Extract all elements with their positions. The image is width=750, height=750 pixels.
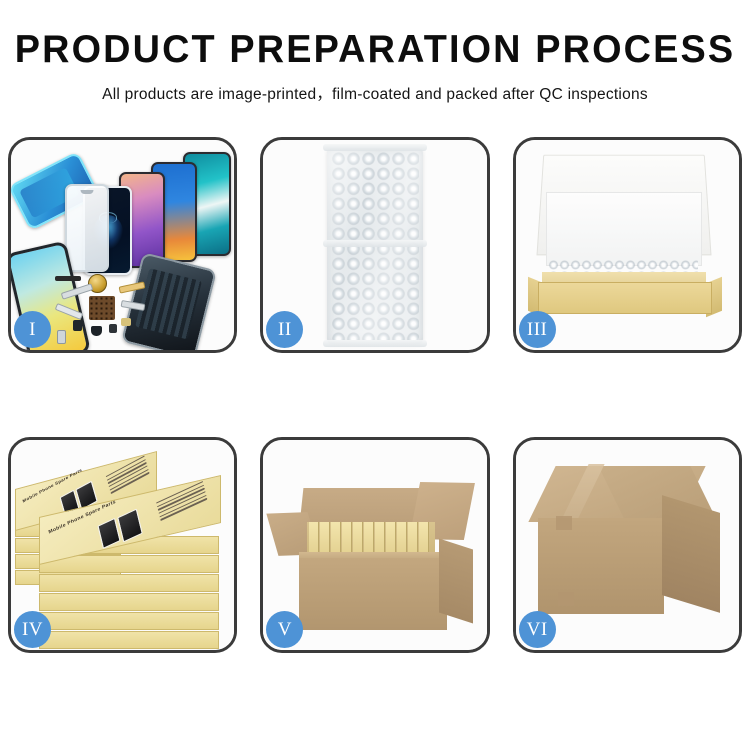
step-panel-1: I bbox=[8, 137, 237, 353]
small-part bbox=[91, 326, 102, 336]
small-part bbox=[57, 330, 66, 344]
header: PRODUCT PREPARATION PROCESS All products… bbox=[0, 0, 750, 104]
box-phone-graphic bbox=[97, 518, 120, 549]
small-part bbox=[109, 324, 117, 333]
page-subtitle: All products are image-printed，film-coat… bbox=[0, 82, 750, 104]
step-badge-4: IV bbox=[14, 611, 51, 648]
inner-box-front bbox=[538, 282, 712, 314]
step-panel-4: Mobile Phone Spare Parts Mobile Phone Sp… bbox=[8, 437, 237, 653]
page-title: PRODUCT PREPARATION PROCESS bbox=[11, 30, 739, 69]
step-badge-3: III bbox=[519, 311, 556, 348]
bubble-wrap-seal-bottom bbox=[323, 340, 427, 347]
small-part bbox=[121, 318, 131, 326]
foam-sheet bbox=[546, 192, 702, 266]
sealed-carton-front bbox=[538, 518, 664, 614]
step-panel-3: III bbox=[513, 137, 742, 353]
carton-side-face bbox=[439, 538, 473, 623]
carton-edge-tab bbox=[558, 592, 574, 606]
step-panel-2: II bbox=[260, 137, 489, 353]
process-steps-grid: I II III bbox=[8, 137, 742, 653]
box-spec-lines bbox=[156, 481, 208, 523]
bubble-wrap-seal-mid bbox=[323, 240, 427, 247]
sealed-carton-side bbox=[662, 495, 720, 613]
chip-array-part bbox=[89, 296, 115, 320]
retail-box-side bbox=[39, 612, 219, 630]
carton-edge-tab bbox=[556, 516, 572, 530]
box-spec-lines bbox=[106, 456, 150, 497]
retail-box-side bbox=[39, 574, 219, 592]
small-part bbox=[55, 276, 81, 281]
step-panel-6: VI bbox=[513, 437, 742, 653]
retail-box-side bbox=[39, 631, 219, 649]
step-badge-1: I bbox=[14, 311, 51, 348]
retail-box-side bbox=[39, 593, 219, 611]
product-preparation-infographic: PRODUCT PREPARATION PROCESS All products… bbox=[0, 0, 750, 750]
box-phone-graphic bbox=[117, 509, 143, 543]
glass-protector bbox=[65, 184, 109, 272]
bubble-wrap-seal-top bbox=[323, 144, 427, 151]
small-part bbox=[73, 320, 82, 331]
step-panel-5: V bbox=[260, 437, 489, 653]
carton-front-face bbox=[299, 558, 447, 630]
step-badge-6: VI bbox=[519, 611, 556, 648]
